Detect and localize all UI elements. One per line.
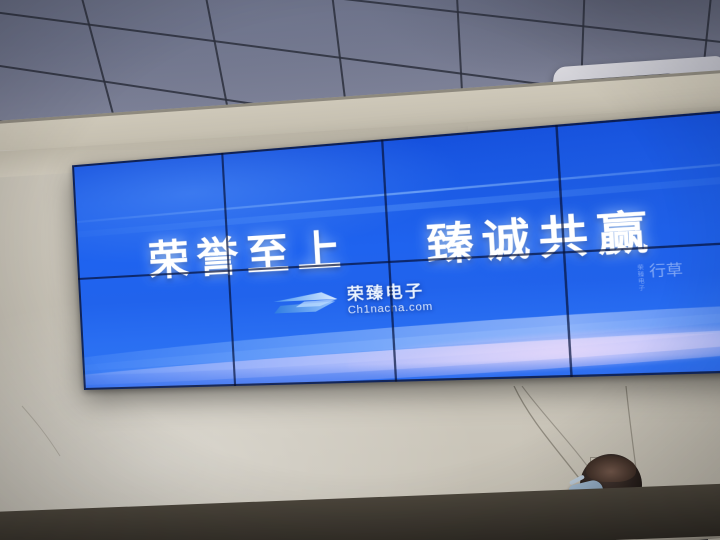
signature-side-text: 荣臻电子 bbox=[636, 264, 647, 292]
photo-scene: 荣誉至上 臻诚共赢 bbox=[0, 0, 720, 540]
person-hair bbox=[586, 456, 636, 482]
signature-main-text: 行草 bbox=[649, 262, 684, 279]
wall-crack-line bbox=[20, 404, 90, 464]
video-wall-display[interactable]: 荣誉至上 臻诚共赢 bbox=[78, 165, 664, 390]
chevron-arrow-logo-icon bbox=[271, 289, 340, 317]
slogan-part-left: 荣誉至上 bbox=[147, 225, 350, 284]
slogan-part-right: 臻诚共赢 bbox=[425, 205, 658, 269]
signature-stamp: 荣臻电子 行草 bbox=[636, 262, 684, 292]
